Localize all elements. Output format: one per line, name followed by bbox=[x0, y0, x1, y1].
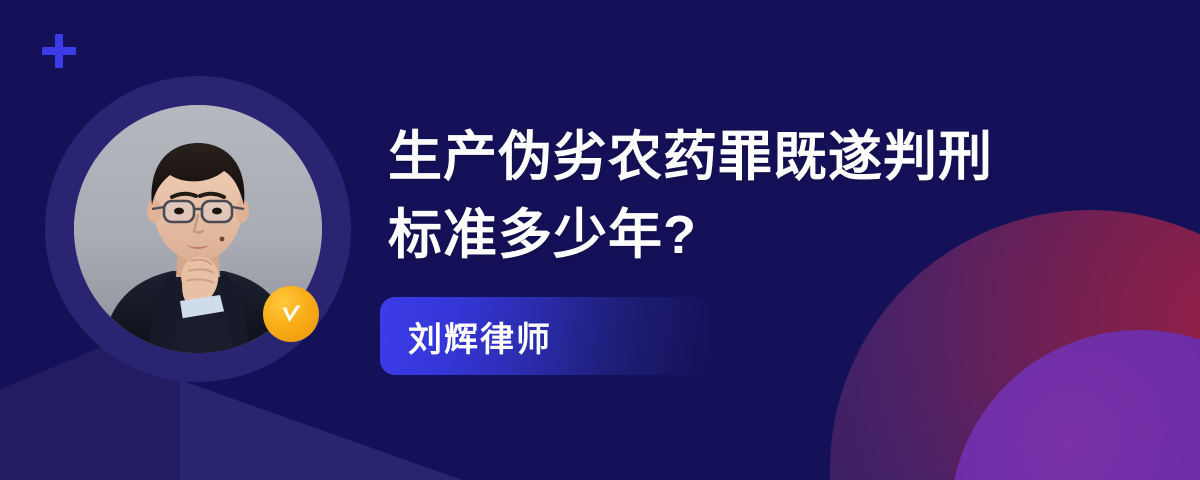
plus-icon-vertical-bar bbox=[55, 34, 63, 68]
headline-block: 生产伪劣农药罪既遂判刑 标准多少年? bbox=[388, 118, 1088, 274]
verified-badge-icon bbox=[263, 286, 319, 342]
lawyer-question-banner: 生产伪劣农药罪既遂判刑 标准多少年? 刘辉律师 bbox=[0, 0, 1200, 480]
author-name-button[interactable]: 刘辉律师 bbox=[380, 297, 710, 375]
wedge-right-decor bbox=[180, 380, 510, 480]
plus-icon bbox=[42, 34, 76, 68]
page-title: 生产伪劣农药罪既遂判刑 标准多少年? bbox=[388, 118, 1088, 274]
avatar[interactable] bbox=[45, 76, 351, 382]
